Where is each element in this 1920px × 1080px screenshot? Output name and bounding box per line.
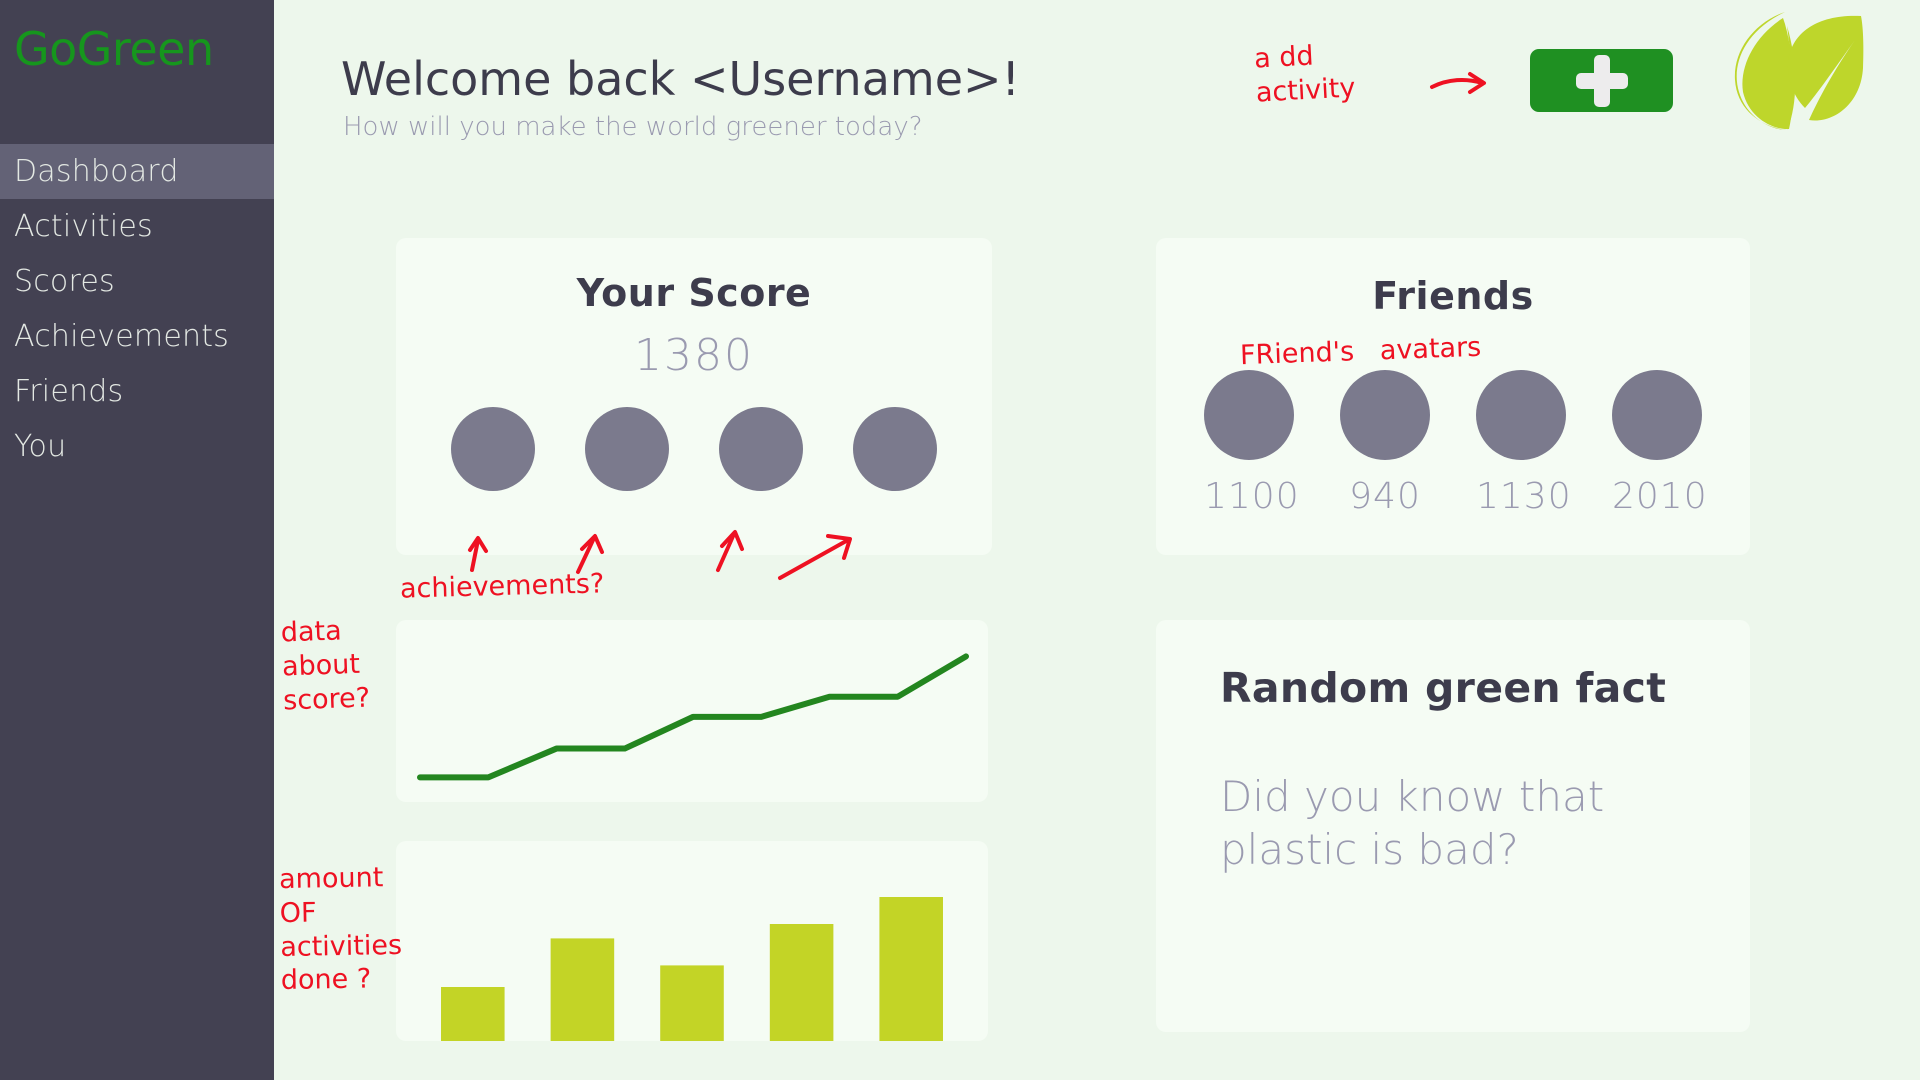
fact-card-title: Random green fact: [1220, 664, 1750, 712]
sidebar-item-scores[interactable]: Scores: [0, 254, 274, 309]
plus-icon: [1576, 55, 1628, 107]
achievement-badge[interactable]: [451, 407, 535, 491]
sidebar: GoGreen Dashboard Activities Scores Achi…: [0, 0, 274, 1080]
sidebar-item-label: Scores: [14, 264, 115, 299]
bar: [441, 987, 505, 1041]
friends-list: 1100 940 1130 2010: [1156, 370, 1750, 517]
score-card-title: Your Score: [396, 271, 992, 315]
app-brand-logo-text[interactable]: GoGreen: [14, 22, 214, 76]
avatar: [1204, 370, 1294, 460]
annotation-achievements: achievements?: [400, 567, 605, 606]
activities-bar-chart: [396, 841, 988, 1041]
leaf-logo-icon: [1725, 10, 1865, 132]
sidebar-item-label: Achievements: [14, 319, 229, 354]
friend-score: 940: [1340, 476, 1430, 517]
fact-card-body: Did you know that plastic is bad?: [1220, 770, 1690, 877]
achievement-badge[interactable]: [853, 407, 937, 491]
sidebar-item-activities[interactable]: Activities: [0, 199, 274, 254]
friends-card: Friends 1100 940 1130 2010: [1156, 238, 1750, 555]
friend-score: 2010: [1612, 476, 1702, 517]
friend-score: 1100: [1204, 476, 1294, 517]
bar: [660, 965, 724, 1041]
sidebar-item-friends[interactable]: Friends: [0, 364, 274, 419]
activities-bar-chart-card[interactable]: [396, 841, 988, 1041]
bar: [879, 897, 943, 1041]
sidebar-item-dashboard[interactable]: Dashboard: [0, 144, 274, 199]
avatar: [1476, 370, 1566, 460]
score-card: Your Score 1380: [396, 238, 992, 555]
friend-item[interactable]: 1130: [1476, 370, 1566, 517]
score-line-chart: [396, 620, 988, 802]
sidebar-item-label: Friends: [14, 374, 123, 409]
friends-card-title: Friends: [1156, 274, 1750, 318]
sidebar-item-label: You: [14, 429, 66, 464]
dashboard-page: GoGreen Dashboard Activities Scores Achi…: [0, 0, 1920, 1080]
sidebar-item-label: Activities: [14, 209, 153, 244]
add-activity-button[interactable]: [1530, 49, 1673, 112]
friend-item[interactable]: 1100: [1204, 370, 1294, 517]
sidebar-item-label: Dashboard: [14, 154, 179, 189]
random-green-fact-card: Random green fact Did you know that plas…: [1156, 620, 1750, 1032]
friend-item[interactable]: 940: [1340, 370, 1430, 517]
sidebar-item-you[interactable]: You: [0, 419, 274, 474]
page-title: Welcome back <Username>!: [341, 52, 1020, 106]
sidebar-nav: Dashboard Activities Scores Achievements…: [0, 144, 274, 474]
sidebar-item-achievements[interactable]: Achievements: [0, 309, 274, 364]
avatar: [1340, 370, 1430, 460]
score-value: 1380: [396, 330, 992, 381]
achievement-badge[interactable]: [585, 407, 669, 491]
bar: [551, 938, 615, 1041]
friend-score: 1130: [1476, 476, 1566, 517]
line-series: [420, 656, 966, 777]
annotation-add-activity: a dd activity: [1253, 37, 1356, 110]
annotation-amount-activities: amount OF activities done ?: [279, 861, 403, 998]
achievement-badge-row: [396, 407, 992, 491]
avatar: [1612, 370, 1702, 460]
achievement-badge[interactable]: [719, 407, 803, 491]
score-line-chart-card[interactable]: [396, 620, 988, 802]
friend-item[interactable]: 2010: [1612, 370, 1702, 517]
page-subtitle: How will you make the world greener toda…: [343, 112, 923, 142]
arrow-add-activity: [1432, 80, 1482, 87]
annotation-data-about-score: data about score?: [280, 614, 370, 718]
bar: [770, 924, 834, 1041]
